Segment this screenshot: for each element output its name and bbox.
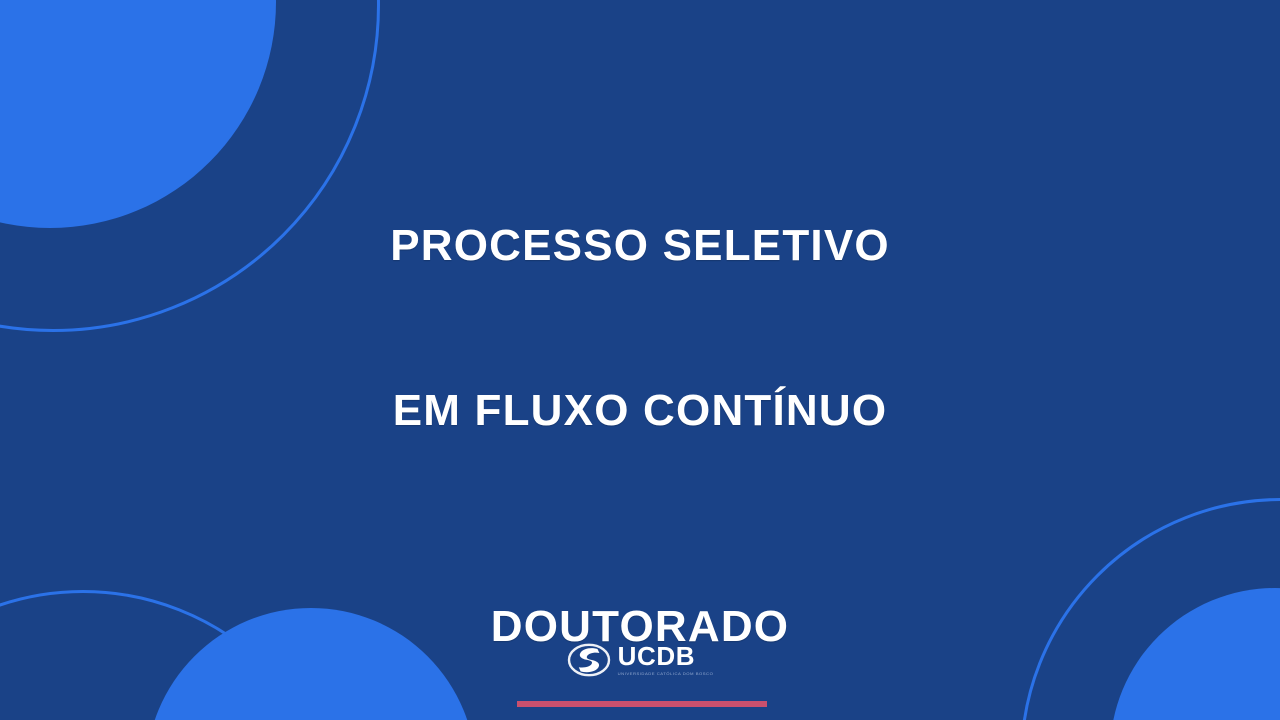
slide-content: PROCESSO SELETIVO EM FLUXO CONTÍNUO DOUT…	[0, 0, 1280, 720]
presentation-slide: PROCESSO SELETIVO EM FLUXO CONTÍNUO DOUT…	[0, 0, 1280, 720]
accent-divider	[517, 701, 767, 707]
headline-line-1: PROCESSO SELETIVO	[390, 218, 890, 273]
slide-headline: PROCESSO SELETIVO EM FLUXO CONTÍNUO	[390, 108, 890, 548]
degree-level-title: DOUTORADO	[491, 601, 789, 653]
headline-line-2: EM FLUXO CONTÍNUO	[390, 383, 890, 438]
divider-container	[0, 701, 1280, 707]
